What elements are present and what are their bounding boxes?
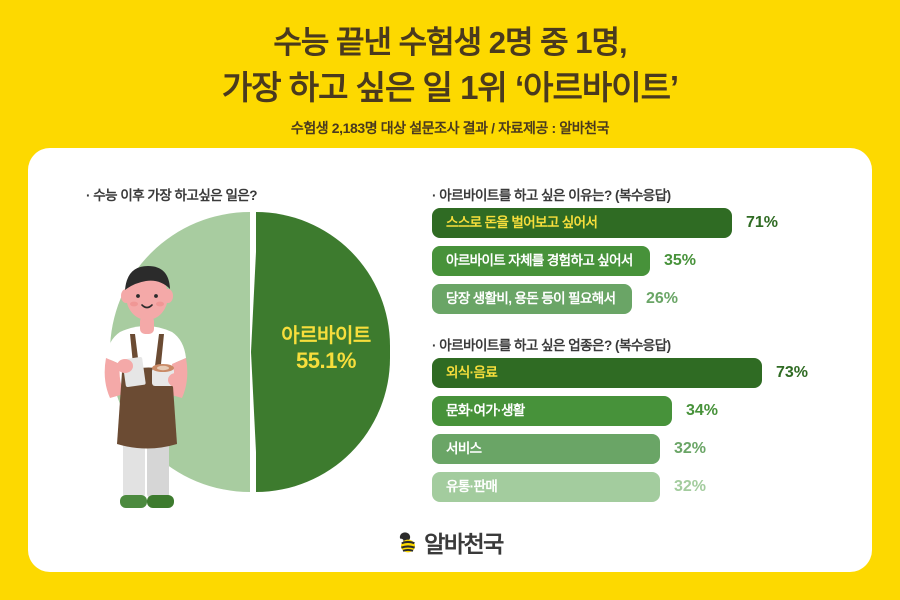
bar-value: 32% <box>674 434 706 464</box>
bar-value: 73% <box>776 358 808 388</box>
bar-label: 아르바이트 자체를 경험하고 싶어서 <box>446 246 633 276</box>
bar-row: 당장 생활비, 용돈 등이 필요해서 26% <box>432 284 852 314</box>
pie-section-title: · 수능 이후 가장 하고싶은 일은? <box>86 184 257 204</box>
bar-value: 34% <box>686 396 718 426</box>
bar-value: 35% <box>664 246 696 276</box>
bar-label: 서비스 <box>446 434 481 464</box>
bar-row: 서비스 32% <box>432 434 852 464</box>
pie-slice-label-value: 55.1% <box>262 348 390 375</box>
bar-row: 스스로 돈을 벌어보고 싶어서 71% <box>432 208 852 238</box>
pie-slice-label: 아르바이트 55.1% <box>262 324 390 375</box>
pie-slice-label-name: 아르바이트 <box>262 324 390 348</box>
bee-icon <box>397 530 419 554</box>
industry-section-title: · 아르바이트를 하고 싶은 업종은? (복수응답) <box>432 334 671 354</box>
bar-value: 71% <box>746 208 778 238</box>
bar-value: 32% <box>674 472 706 502</box>
bar-row: 외식·음료 73% <box>432 358 852 388</box>
content-card: · 수능 이후 가장 하고싶은 일은? 아르바이트 55.1% <box>28 148 872 572</box>
bar-row: 문화·여가·생활 34% <box>432 396 852 426</box>
barista-illustration <box>90 260 210 520</box>
brand-logo: 알바천국 <box>28 522 872 562</box>
bar-row: 유통·판매 32% <box>432 472 852 502</box>
header: 수능 끝낸 수험생 2명 중 1명, 가장 하고 싶은 일 1위 ‘아르바이트’… <box>0 0 900 148</box>
bar-label: 스스로 돈을 벌어보고 싶어서 <box>446 208 597 238</box>
bar-label: 당장 생활비, 용돈 등이 필요해서 <box>446 284 615 314</box>
page-title-line-2: 가장 하고 싶은 일 1위 ‘아르바이트’ <box>0 68 900 108</box>
page-subtitle: 수험생 2,183명 대상 설문조사 결과 / 자료제공 : 알바천국 <box>0 118 900 138</box>
bar-label: 외식·음료 <box>446 358 497 388</box>
bar-row: 아르바이트 자체를 경험하고 싶어서 35% <box>432 246 852 276</box>
bar-label: 유통·판매 <box>446 472 497 502</box>
reasons-section-title: · 아르바이트를 하고 싶은 이유는? (복수응답) <box>432 184 671 204</box>
bar-value: 26% <box>646 284 678 314</box>
brand-logo-text: 알바천국 <box>424 525 503 559</box>
bar-label: 문화·여가·생활 <box>446 396 525 426</box>
page-title-line-1: 수능 끝낸 수험생 2명 중 1명, <box>0 24 900 62</box>
